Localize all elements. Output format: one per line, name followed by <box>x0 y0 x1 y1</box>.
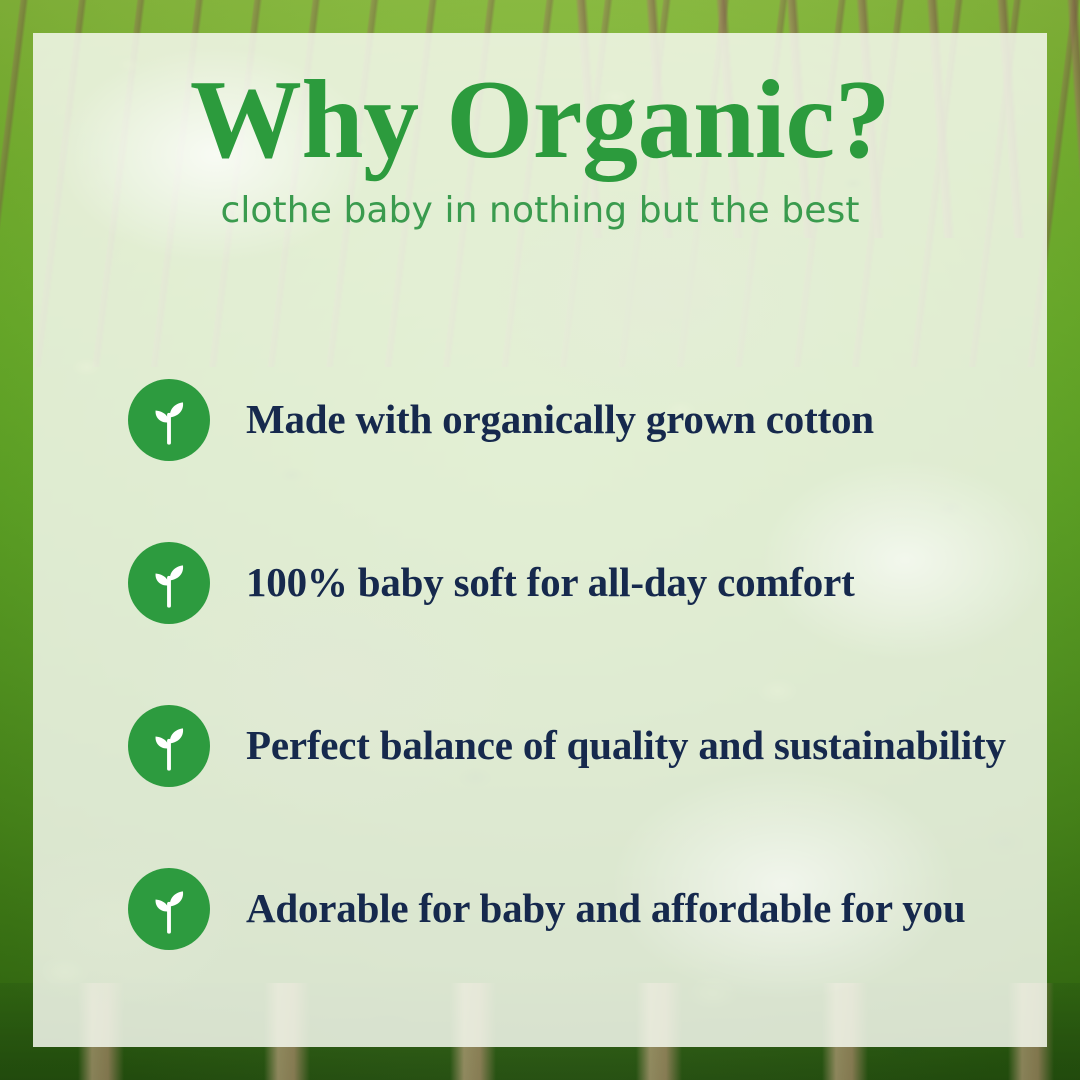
list-item: Perfect balance of quality and sustainab… <box>128 664 1007 827</box>
benefit-label: Made with organically grown cotton <box>246 396 874 443</box>
list-item: 100% baby soft for all-day comfort <box>128 501 1007 664</box>
sprout-icon <box>128 868 210 950</box>
sprout-icon <box>128 542 210 624</box>
organic-benefits-poster: Why Organic? clothe baby in nothing but … <box>0 0 1080 1080</box>
benefit-label: Perfect balance of quality and sustainab… <box>246 722 1006 769</box>
sprout-icon <box>128 705 210 787</box>
poster-header: Why Organic? clothe baby in nothing but … <box>33 63 1047 231</box>
page-title: Why Organic? <box>33 63 1047 177</box>
benefit-label: 100% baby soft for all-day comfort <box>246 559 855 606</box>
content-panel: Why Organic? clothe baby in nothing but … <box>33 33 1047 1047</box>
benefit-label: Adorable for baby and affordable for you <box>246 885 965 932</box>
sprout-icon <box>128 379 210 461</box>
page-subtitle: clothe baby in nothing but the best <box>33 191 1047 231</box>
list-item: Adorable for baby and affordable for you <box>128 827 1007 990</box>
list-item: Made with organically grown cotton <box>128 338 1007 501</box>
benefits-list: Made with organically grown cotton 100% … <box>128 338 1007 990</box>
